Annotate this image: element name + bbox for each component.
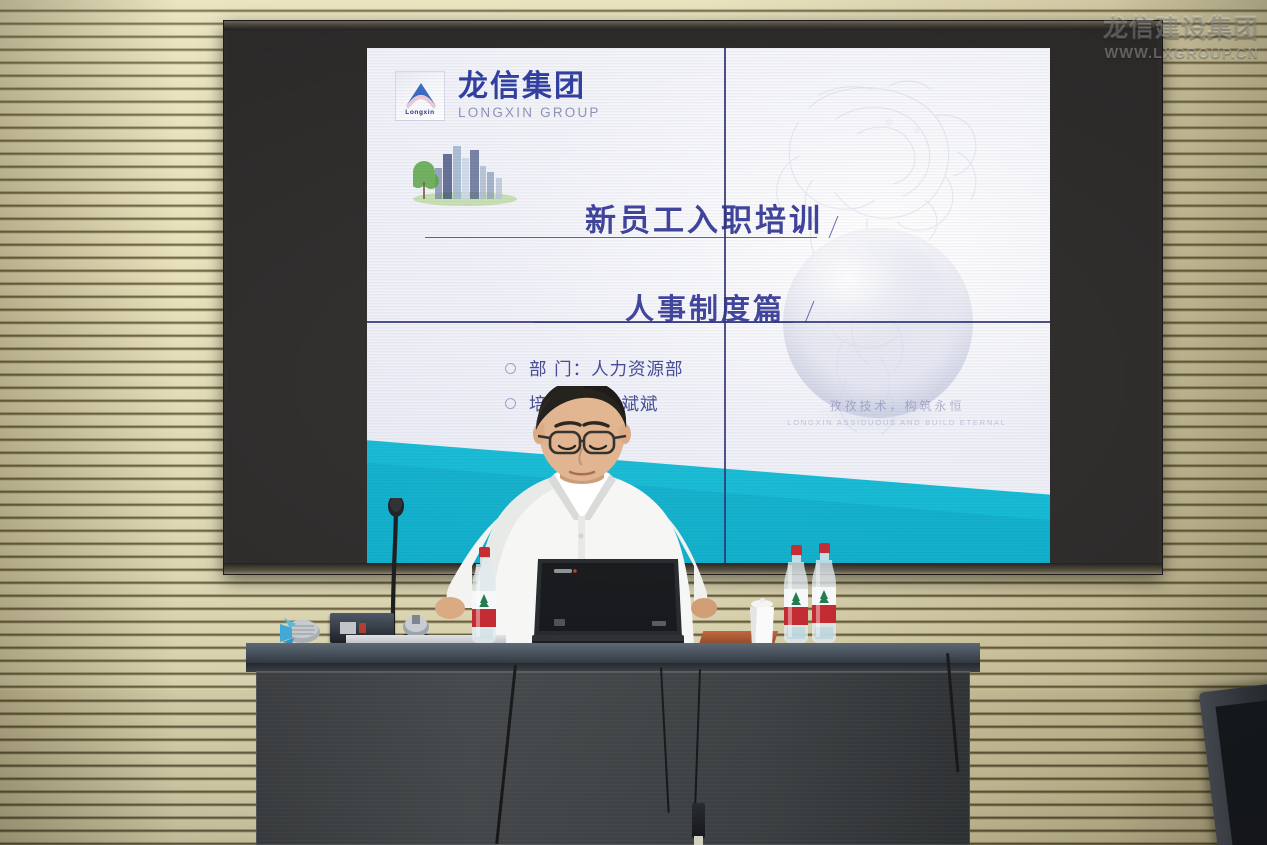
mic-base-label [340, 622, 356, 634]
list-item: 部 门：人力资源部 [505, 351, 684, 386]
circle-ring-bullet-icon [505, 363, 516, 374]
slide-title-rule [425, 237, 817, 238]
video-wall-seam-horizontal [367, 321, 1050, 323]
desk-front-panel [256, 671, 970, 845]
slide-tagline: 孜孜技术，构筑永恒 LONGXIN ASSIDUOUS AND BUILD ET… [772, 397, 1022, 427]
presenter-hand-left [435, 597, 465, 619]
logo-wordmark: Longxin [405, 109, 434, 120]
conference-desk [246, 643, 980, 845]
tagline-en: LONGXIN ASSIDUOUS AND BUILD ETERNAL [772, 418, 1022, 427]
slide-brand-logo: Longxin 龙信集团 LONGXIN GROUP [395, 71, 601, 121]
photo-canvas: Longxin 龙信集团 LONGXIN GROUP 新员工入职培训 人事制度篇 [0, 0, 1267, 845]
desk-top [246, 643, 980, 665]
laptop[interactable] [532, 555, 684, 647]
laptop-port [554, 619, 565, 626]
mic-base-indicator [359, 623, 366, 633]
usb-connector [692, 803, 705, 838]
presenter-hand-right [691, 598, 717, 618]
water-bottle-right[interactable] [807, 543, 841, 645]
laptop-brand-badge [554, 569, 572, 573]
blue-handheld-object[interactable] [272, 616, 328, 644]
longxin-logo-icon: Longxin [395, 71, 445, 121]
bullet-label-department: 部 门：人力资源部 [529, 356, 684, 381]
glass-globe-icon [783, 228, 973, 418]
brand-name-cn: 龙信集团 [458, 72, 601, 102]
brand-name-en: LONGXIN GROUP [458, 106, 601, 120]
tagline-cn: 孜孜技术，构筑永恒 [772, 397, 1022, 414]
water-bottle-left[interactable] [467, 547, 501, 645]
slide-title: 新员工入职培训 [367, 195, 823, 240]
usb-connector-tip [694, 836, 703, 845]
